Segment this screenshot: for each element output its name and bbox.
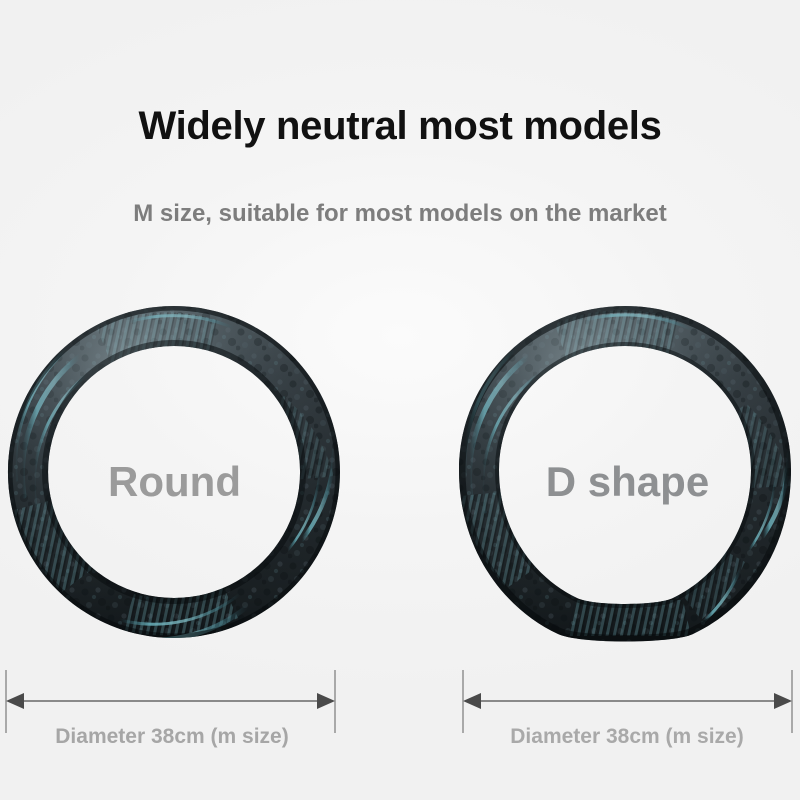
dimension-label-dshape: Diameter 38cm (m size)	[458, 725, 796, 749]
arrow-head-right-icon	[774, 693, 792, 709]
dimension-annotation-round: Diameter 38cm (m size)	[2, 665, 342, 775]
arrow-head-left-icon	[6, 693, 24, 709]
dimension-annotation-dshape: Diameter 38cm (m size)	[458, 665, 796, 775]
round-wheel-cover-image	[2, 300, 347, 650]
page-title: Widely neutral most models	[0, 104, 800, 149]
dshape-wheel-cover-image	[455, 300, 800, 650]
arrow-head-right-icon	[317, 693, 335, 709]
arrow-head-left-icon	[463, 693, 481, 709]
page-subtitle: M size, suitable for most models on the …	[0, 200, 800, 228]
infographic-page: Widely neutral most models M size, suita…	[0, 0, 800, 800]
product-figure-dshape: D shape	[455, 300, 800, 650]
product-figure-round: Round	[2, 300, 347, 650]
dimension-label-round: Diameter 38cm (m size)	[2, 725, 342, 749]
